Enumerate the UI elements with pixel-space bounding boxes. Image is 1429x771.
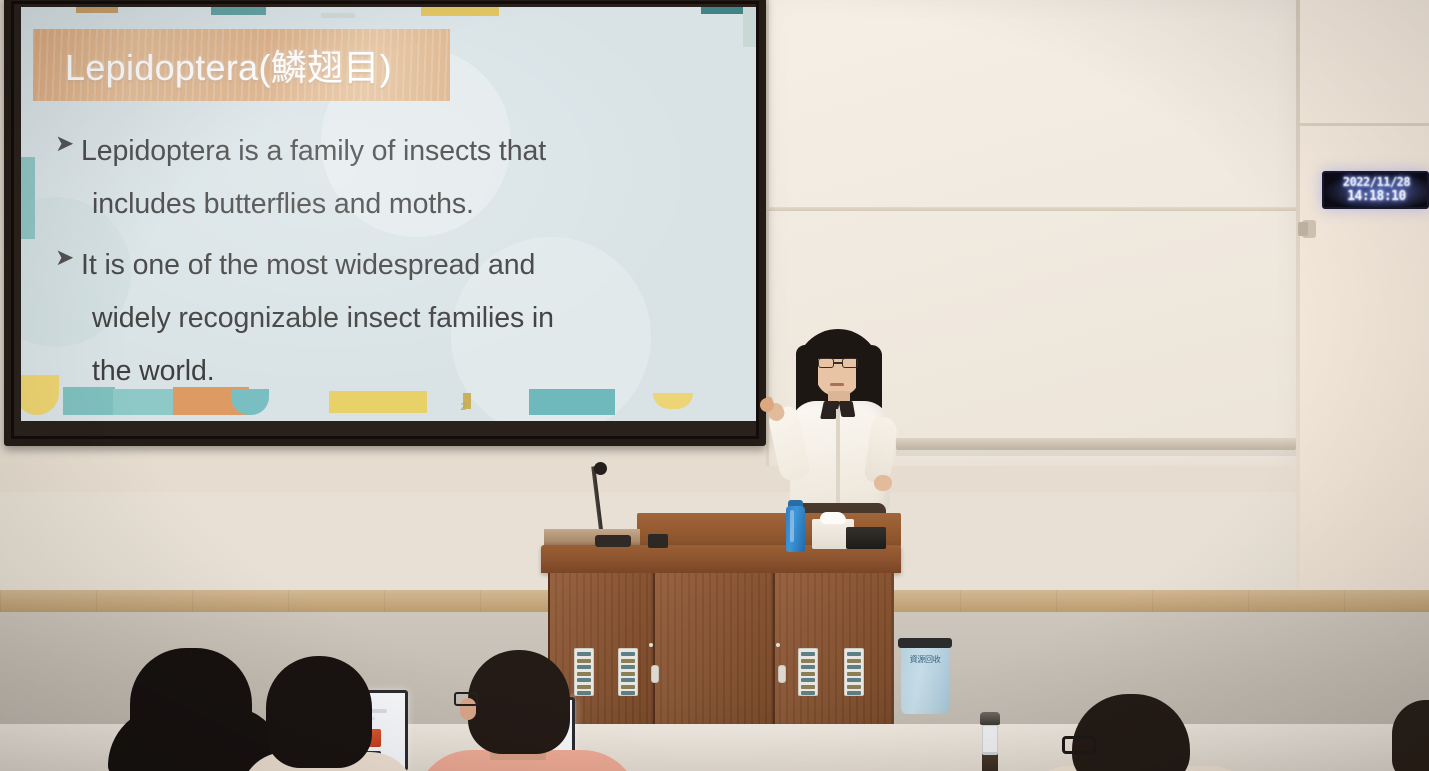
bullet-arrow-icon: ➤ [55,132,81,155]
black-device [846,527,886,549]
microphone-head-icon [594,462,607,475]
recycling-bin-label: 資源回收 [901,655,949,665]
presenter-hand-right [874,475,892,491]
lectern-top-rail [541,545,901,573]
presentation-slide: Lepidoptera(鱗翅目) ➤ Lepidoptera is a fami… [21,7,756,421]
student-head [468,650,570,754]
slide-decoration-shape [211,7,266,15]
led-wall-clock: 2022/11/28 14:18:10 [1322,171,1429,209]
tissue-sheet [820,512,846,524]
blue-water-bottle [786,506,805,552]
slide-decoration-shape [21,375,59,415]
bullet-line: Lepidoptera is a family of insects that [81,125,546,178]
student-head [1072,694,1190,771]
slide-decoration-shape [653,393,693,409]
slide-decoration-shape [21,157,35,239]
slide-decoration-shape [76,7,118,13]
bullet-text: Lepidoptera is a family of insects that … [81,125,546,231]
presenter-mouth [830,383,844,386]
lectern-latch[interactable] [651,665,659,683]
lectern-outlet-plate[interactable] [844,648,864,696]
student-salmon-shirt [434,650,624,771]
student-short-hair [252,656,402,771]
slide-title: Lepidoptera(鱗翅目) [65,39,392,91]
slide-body: ➤ Lepidoptera is a family of insects tha… [55,125,735,406]
bottle-highlight [790,510,794,542]
bullet-line: It is one of the most widespread and [81,239,554,292]
slide-bullet: ➤ Lepidoptera is a family of insects tha… [55,125,735,231]
lectern-latch[interactable] [778,665,786,683]
foreground-thermos [978,712,1002,771]
student-glasses-right [1052,694,1224,771]
projection-screen: Lepidoptera(鱗翅目) ➤ Lepidoptera is a fami… [4,0,766,446]
led-readout: 2022/11/28 14:18:10 [1328,175,1425,204]
glasses-icon [818,358,858,368]
slide-page-number: 2 [460,402,466,413]
thermos-cap [980,712,1000,725]
wall-seam [1300,123,1429,126]
slide-bullet: ➤ It is one of the most widespread and w… [55,239,735,398]
lectern-outlet-plate[interactable] [798,648,818,696]
lectern-screw [649,643,653,647]
whiteboard-seam [766,207,1296,211]
led-time: 14:18:10 [1328,189,1425,204]
led-date: 2022/11/28 [1328,175,1425,189]
glasses-icon [1062,736,1096,754]
whiteboard-marker-tray [896,438,1296,450]
lectern-panel [773,573,894,735]
thermos-body-clear [982,725,998,755]
slide-decoration-shape [113,389,173,415]
slide-decoration-shape [329,391,427,413]
microphone-base [595,535,631,547]
bullet-line: includes butterflies and moths. [81,178,546,231]
student-head [1392,700,1429,771]
lecture-hall-scene: Lepidoptera(鱗翅目) ➤ Lepidoptera is a fami… [0,0,1429,771]
presenter-button-placket [836,409,840,509]
recycling-bin: 資源回收 [901,641,949,714]
student-head [130,648,252,771]
lectern-panel [653,573,773,735]
wall-corner-edge [1296,0,1300,600]
glasses-icon [454,692,478,706]
bullet-line: widely recognizable insect families in [81,292,554,345]
slide-decoration-shape [321,13,355,18]
whiteboard-knob-secondary [1298,222,1308,236]
slide-title-band: Lepidoptera(鱗翅目) [33,29,450,101]
right-wall-panel [1298,0,1429,600]
bullet-text: It is one of the most widespread and wid… [81,239,554,398]
bullet-arrow-icon: ➤ [55,246,81,269]
slide-decoration-shape [421,7,499,16]
lectern-control-box [648,534,668,548]
student-far-right [1392,700,1429,771]
student-head [266,656,372,768]
slide-decoration-shape [743,7,756,47]
slide-decoration-shape [701,7,749,14]
presenter-collar [839,401,856,417]
slide-decoration-shape [529,389,615,415]
recycling-bin-rim [898,638,952,648]
whiteboard-tray-shadow [896,450,1296,456]
slide-decoration-shape [63,387,115,415]
lectern-screw [776,643,780,647]
